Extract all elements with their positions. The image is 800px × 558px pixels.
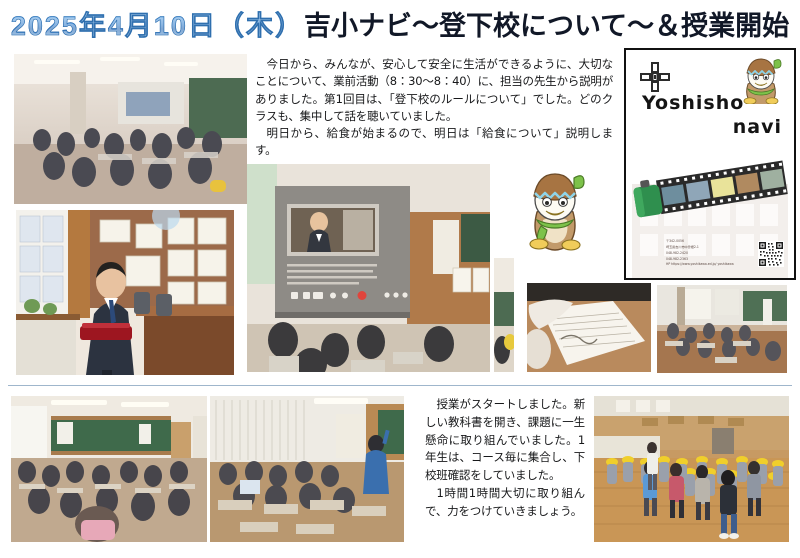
photo-worksheet-desk xyxy=(527,283,651,372)
mascot-acorn-icon xyxy=(519,168,591,252)
navi-card-title: Yoshisho navi xyxy=(642,92,792,138)
filmstrip-graphic xyxy=(632,158,790,220)
photo-class-teacher-board xyxy=(210,396,404,542)
navi-contact-block: 〒342-0056 埼玉県吉川市中曽根2-1 048-982-2420 048-… xyxy=(666,239,746,268)
article-bottom-paragraph-1: 授業がスタートしました。新しい教科書を開き、課題に一生懸命に取り組んでいました。… xyxy=(425,396,585,485)
article-top-paragraph-1: 今日から、みんなが、安心して安全に生活ができるように、大切なことについて、業前活… xyxy=(255,56,613,125)
navi-title-line1: Yoshisho xyxy=(642,92,744,114)
photo-projector-screen xyxy=(247,164,490,372)
page-title: 2025年4月10日（木）吉小ナビ～登下校について～＆授業開始 xyxy=(0,4,800,44)
photo-classroom-listening xyxy=(494,258,514,372)
contact-hp: HP https://www.yoshikawa.ed.jp/ yoshikaw… xyxy=(666,262,746,268)
school-crest-icon xyxy=(640,62,670,92)
article-top-paragraph-2: 明日から、給食が始まるので、明日は「給食について」説明します。 xyxy=(255,125,613,160)
article-bottom-paragraph-2: 1時間1時間大切に取り組んで、力をつけていきましょう。 xyxy=(425,485,585,521)
article-top-text: 今日から、みんなが、安心して安全に生活ができるように、大切なことについて、業前活… xyxy=(255,56,613,160)
photo-class-blackboard xyxy=(11,396,207,542)
title-subject: 吉小ナビ～登下校について～＆授業開始 xyxy=(304,11,789,41)
photo-gym-firstgraders xyxy=(594,396,789,542)
photo-classroom-wide xyxy=(657,285,787,373)
yoshisho-navi-card: Yoshisho navi xyxy=(624,48,796,280)
photo-teacher-presenting xyxy=(16,210,234,375)
photo-assembly-projector xyxy=(14,54,247,204)
title-date: 2025年4月10日（木） xyxy=(11,11,304,41)
article-bottom-text: 授業がスタートしました。新しい教科書を開き、課題に一生懸命に取り組んでいました。… xyxy=(425,396,585,521)
qr-code-icon xyxy=(758,241,784,267)
newsletter-page: 2025年4月10日（木）吉小ナビ～登下校について～＆授業開始 xyxy=(0,0,800,558)
section-divider xyxy=(8,385,792,386)
navi-title-line2: navi xyxy=(642,116,792,138)
